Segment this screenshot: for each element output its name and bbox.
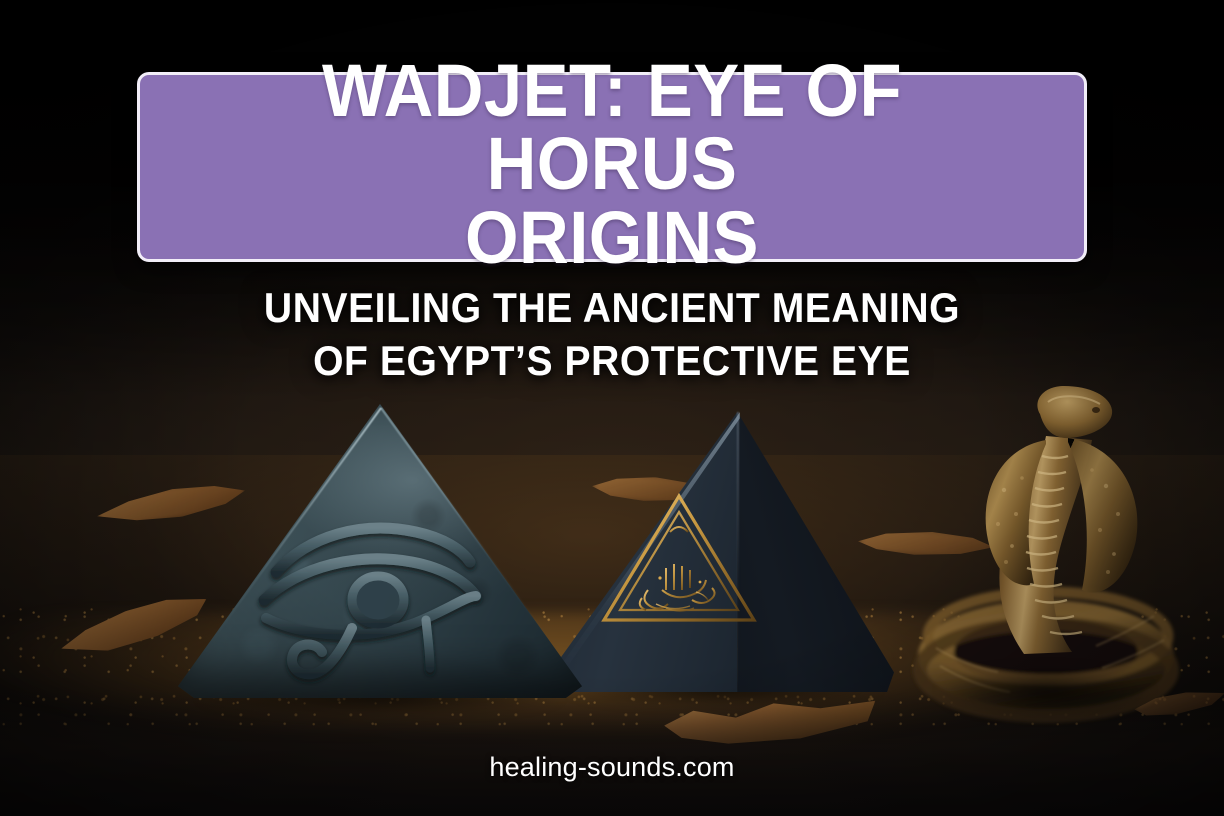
site-watermark: healing-sounds.com — [0, 752, 1224, 783]
poster-canvas: WADJET: EYE OF HORUS ORIGINS UNVEILING T… — [0, 0, 1224, 816]
text-overlay: WADJET: EYE OF HORUS ORIGINS UNVEILING T… — [0, 0, 1224, 816]
subtitle: UNVEILING THE ANCIENT MEANING OF EGYPT’S… — [43, 282, 1181, 388]
page-title: WADJET: EYE OF HORUS ORIGINS — [173, 54, 1051, 280]
title-banner: WADJET: EYE OF HORUS ORIGINS — [137, 72, 1087, 262]
